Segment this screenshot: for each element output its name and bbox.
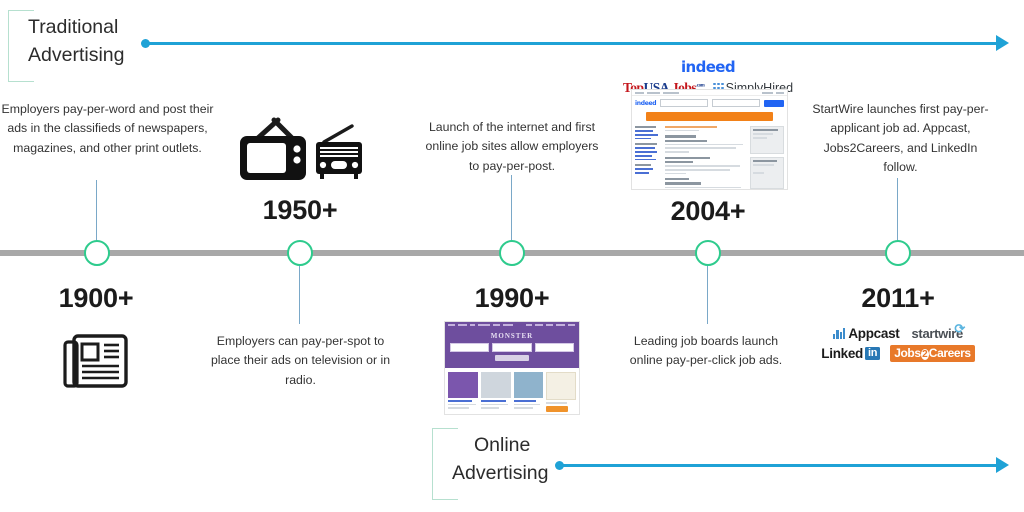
category-label-traditional-line1: Traditional xyxy=(28,14,118,42)
indeed-logo: indeed xyxy=(681,58,735,76)
jobs2careers-num: 2 xyxy=(921,349,929,360)
milestone-year-2004: 2004+ xyxy=(648,196,768,227)
connector-stem-2011 xyxy=(897,178,898,242)
monster-category-field[interactable] xyxy=(535,343,574,352)
milestone-year-1950: 1950+ xyxy=(240,195,360,226)
indeed-search-header: indeed xyxy=(632,96,787,110)
jobs2careers-pre: Jobs xyxy=(894,346,920,360)
indeed-orange-banner xyxy=(646,112,773,121)
milestone-description-1900: Employers pay-per-word and post their ad… xyxy=(0,100,215,158)
monster-feature-cards xyxy=(445,368,579,415)
appcast-logo: Appcast xyxy=(833,326,899,341)
rail-online xyxy=(562,464,998,467)
television-icon xyxy=(240,120,306,180)
milestone-description-2004: Leading job boards launch online pay-per… xyxy=(616,332,796,371)
indeed-sidebar-cards[interactable] xyxy=(750,126,784,190)
indeed-what-field[interactable] xyxy=(660,99,708,107)
indeed-results-body xyxy=(632,123,787,190)
category-label-traditional-line2: Advertising xyxy=(28,42,124,70)
logo-row-linkedin-jobs2careers: Linked in Jobs2Careers xyxy=(818,345,978,362)
rail-dot-online xyxy=(555,461,564,470)
connector-stem-1900 xyxy=(96,180,97,242)
monster-keyword-field[interactable] xyxy=(450,343,489,352)
linkedin-wordmark: Linked xyxy=(821,346,863,361)
topusa-com: .com xyxy=(696,84,704,89)
milestone-year-1990: 1990+ xyxy=(452,283,572,314)
rail-dot-traditional xyxy=(141,39,150,48)
milestone-description-2011: StartWire launches first pay-per-applica… xyxy=(808,100,993,178)
radio-icon xyxy=(316,126,362,179)
milestone-description-1990: Launch of the internet and first online … xyxy=(422,118,602,176)
logos-2011: Appcast startwire ⟳ Linked in Jobs2Caree… xyxy=(818,326,978,366)
monster-card-1[interactable] xyxy=(448,372,478,412)
logo-row-appcast-startwire: Appcast startwire ⟳ xyxy=(818,326,978,341)
indeed-find-jobs-button[interactable] xyxy=(764,100,784,107)
monster-website-screenshot: MONSTER xyxy=(444,321,580,415)
linkedin-logo: Linked in xyxy=(821,346,880,361)
arrow-right-icon-online xyxy=(996,457,1009,473)
monster-search-button[interactable] xyxy=(495,355,529,361)
timeline-node-2004[interactable] xyxy=(695,240,721,266)
monster-brand-logo: MONSTER xyxy=(450,332,574,340)
startwire-swoosh-icon: ⟳ xyxy=(954,321,965,337)
tv-radio-icons xyxy=(232,112,368,184)
monster-card-2[interactable] xyxy=(481,372,511,412)
timeline-node-1990[interactable] xyxy=(499,240,525,266)
monster-hero: MONSTER xyxy=(445,328,579,368)
monster-location-field[interactable] xyxy=(492,343,531,352)
indeed-filter-sidebar[interactable] xyxy=(635,126,661,190)
connector-stem-1950 xyxy=(299,262,300,324)
startwire-logo: startwire ⟳ xyxy=(911,326,963,341)
appcast-bars-icon xyxy=(833,328,845,339)
category-label-online-line1: Online xyxy=(452,432,530,460)
category-label-online-line2: Advertising xyxy=(452,460,548,488)
timeline-node-1900[interactable] xyxy=(84,240,110,266)
milestone-year-1900: 1900+ xyxy=(36,283,156,314)
milestone-description-1950: Employers can pay-per-spot to place thei… xyxy=(208,332,393,390)
jobs2careers-post: Careers xyxy=(929,346,971,360)
timeline-infographic: Traditional Advertising Online Advertisi… xyxy=(0,0,1024,512)
milestone-year-2011: 2011+ xyxy=(838,283,958,314)
indeed-thumb-logo: indeed xyxy=(635,100,656,107)
rail-traditional xyxy=(148,42,998,45)
monster-search-fields xyxy=(450,343,574,352)
arrow-right-icon-traditional xyxy=(996,35,1009,51)
logo-row-indeed: indeed xyxy=(622,58,794,76)
newspaper-icon xyxy=(61,330,131,390)
indeed-website-screenshot: indeed xyxy=(631,89,788,190)
appcast-wordmark: Appcast xyxy=(848,326,899,341)
linkedin-in-badge: in xyxy=(865,347,880,361)
timeline-node-2011[interactable] xyxy=(885,240,911,266)
jobs2careers-logo: Jobs2Careers xyxy=(890,345,975,362)
indeed-where-field[interactable] xyxy=(712,99,760,107)
indeed-job-results[interactable] xyxy=(665,126,746,190)
timeline-node-1950[interactable] xyxy=(287,240,313,266)
monster-card-3[interactable] xyxy=(514,372,544,412)
monster-card-4[interactable] xyxy=(546,372,576,412)
connector-stem-2004 xyxy=(707,262,708,324)
connector-stem-1990 xyxy=(511,175,512,242)
